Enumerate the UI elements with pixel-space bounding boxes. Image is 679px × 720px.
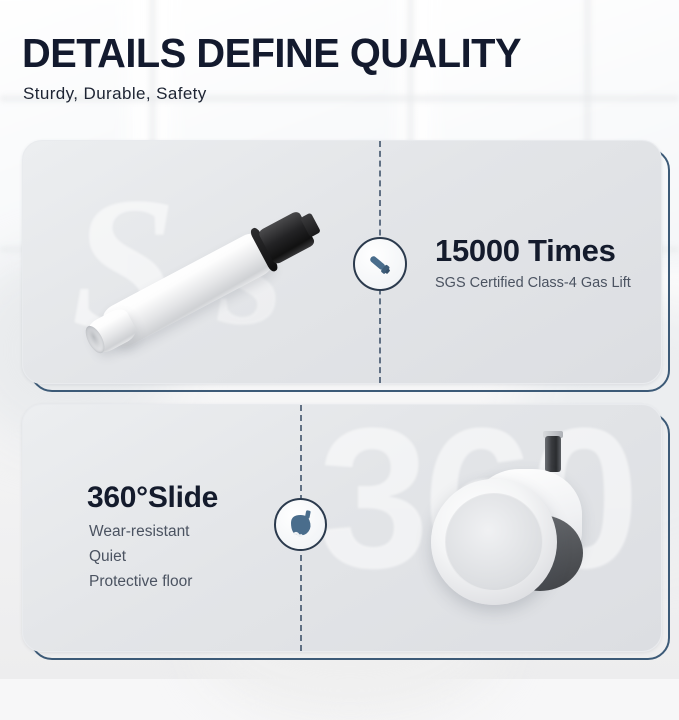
gas-lift-photo — [63, 161, 363, 361]
panel-surface: 360 360°Slide Wear-resistant Quiet Prote… — [22, 404, 662, 652]
page-title: DETAILS DEFINE QUALITY — [22, 30, 659, 77]
panel-surface: S s 15000 — [22, 140, 662, 384]
caster-feature-2: Quiet — [89, 548, 126, 566]
gas-lift-subtext: SGS Certified Class-4 Gas Lift — [435, 275, 631, 291]
feature-panel-caster: 360 360°Slide Wear-resistant Quiet Prote… — [22, 404, 670, 660]
caster-feature-3: Protective floor — [89, 573, 192, 591]
gas-lift-glyph — [360, 244, 400, 284]
caster-wheel-inner — [445, 493, 543, 591]
page-subtitle: Sturdy, Durable, Safety — [23, 84, 679, 104]
caster-wheel-photo — [423, 417, 653, 632]
caster-feature-1: Wear-resistant — [89, 523, 190, 541]
gas-lift-heading: 15000 Times — [435, 233, 616, 269]
header: DETAILS DEFINE QUALITY Sturdy, Durable, … — [0, 0, 679, 104]
gas-lift-icon — [353, 237, 407, 291]
feature-panel-gas-lift: S s 15000 — [22, 140, 670, 392]
caster-stem — [545, 436, 561, 472]
caster-heading: 360°Slide — [87, 481, 218, 515]
caster-wheel-icon — [274, 498, 327, 551]
caster-wheel-glyph — [281, 505, 321, 545]
